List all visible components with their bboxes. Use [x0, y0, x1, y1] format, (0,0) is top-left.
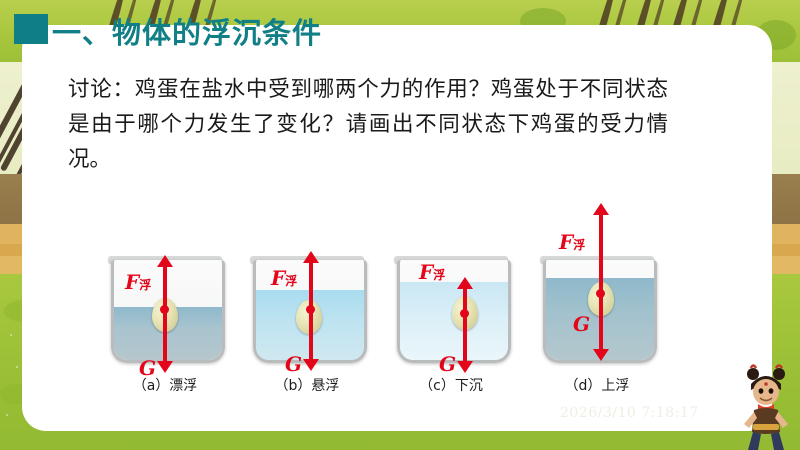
gravity-arrow: [309, 310, 313, 360]
gravity-arrow: [163, 310, 167, 362]
figure-rising: F浮 G （d）上浮: [527, 200, 667, 395]
figure-caption: （b）悬浮: [237, 375, 377, 395]
buoyancy-label: F浮: [559, 230, 585, 254]
buoyancy-arrow: [309, 262, 313, 310]
figure-sinking: F浮 G （c）下沉: [381, 200, 521, 395]
timestamp-watermark: 2026/3/10 7:18:17: [560, 405, 699, 421]
gravity-label: G: [285, 352, 302, 376]
buoyancy-label: F浮: [125, 270, 151, 294]
page-title: 一、物体的浮沉条件: [52, 10, 322, 52]
force-origin-dot: [306, 305, 315, 314]
buoyancy-arrow: [163, 266, 167, 310]
force-diagram-group: F浮 G （a）漂浮 F浮 G （b）悬浮: [95, 200, 705, 395]
force-origin-dot: [460, 309, 469, 318]
gravity-arrow: [463, 314, 467, 362]
buoyancy-label: F浮: [271, 266, 297, 290]
figure-caption: （c）下沉: [381, 375, 521, 395]
figure-caption: （a）漂浮: [95, 375, 235, 395]
gravity-arrow: [599, 294, 603, 350]
buoyancy-arrow: [599, 214, 603, 294]
title-bullet-square: [14, 14, 48, 44]
slide-root: 一、物体的浮沉条件 讨论：鸡蛋在盐水中受到哪两个力的作用？鸡蛋处于不同状态是由于…: [0, 0, 800, 450]
figure-floating: F浮 G （a）漂浮: [95, 200, 235, 395]
buoyancy-label: F浮: [419, 260, 445, 284]
gravity-label: G: [439, 352, 456, 376]
figure-suspended: F浮 G （b）悬浮: [237, 200, 377, 395]
force-origin-dot: [160, 305, 169, 314]
force-origin-dot: [596, 289, 605, 298]
figure-caption: （d）上浮: [527, 375, 667, 395]
mascot-character: [738, 362, 794, 450]
discussion-paragraph: 讨论：鸡蛋在盐水中受到哪两个力的作用？鸡蛋处于不同状态是由于哪个力发生了变化？请…: [68, 72, 668, 177]
beaker-body: [397, 260, 511, 363]
gravity-label: G: [573, 312, 590, 336]
